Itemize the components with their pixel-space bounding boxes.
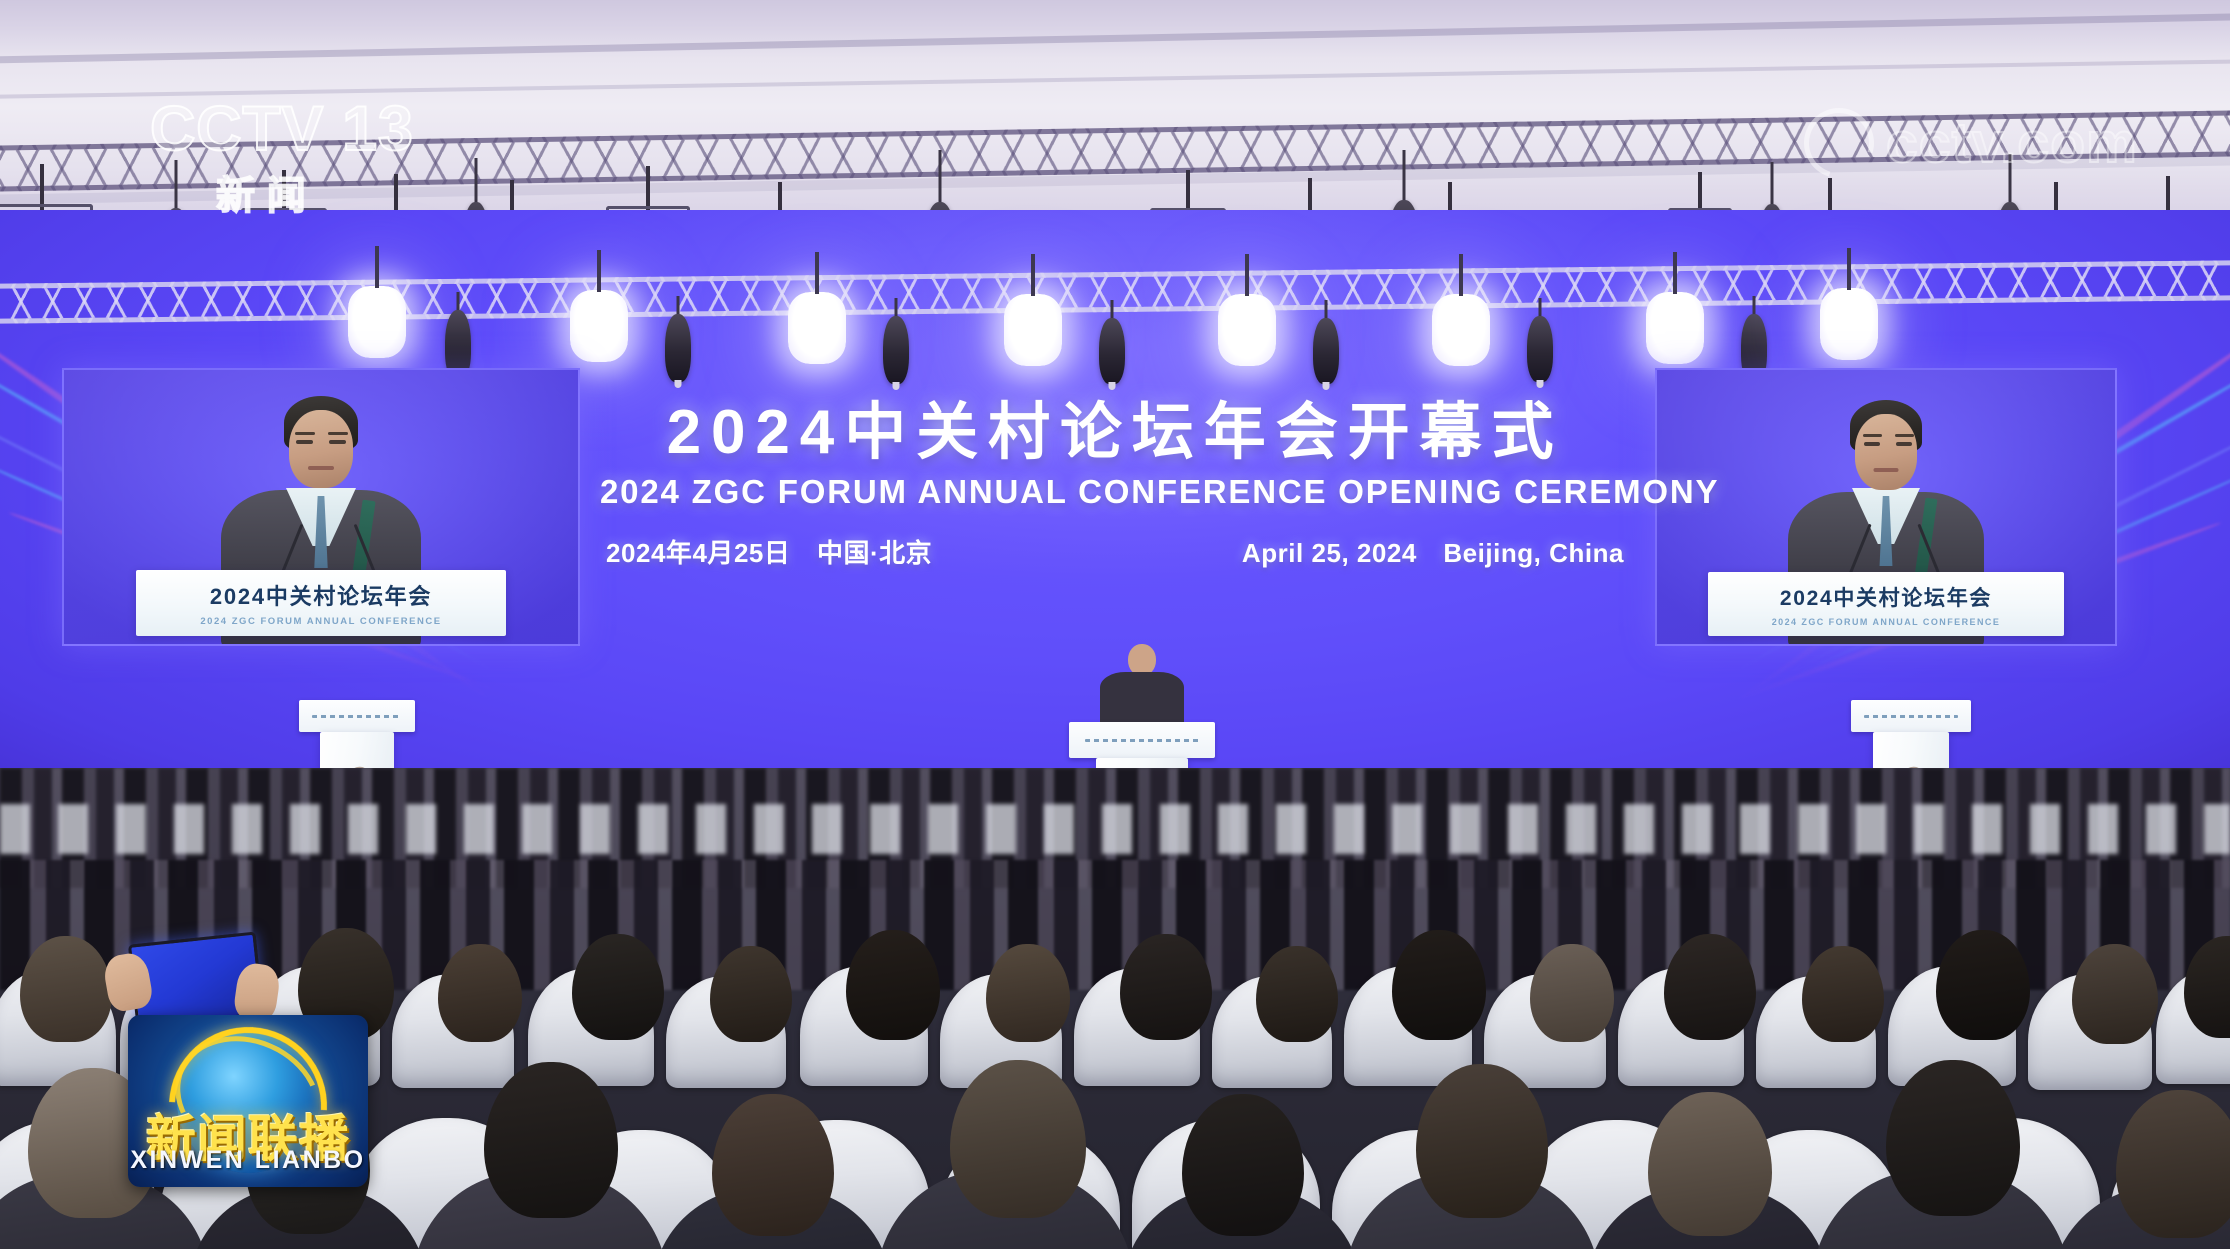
softbox-light <box>1820 288 1878 360</box>
right-screen-podium-sign: 2024中关村论坛年会 2024 ZGC FORUM ANNUAL CONFER… <box>1708 572 2064 636</box>
event-title-zh: 2024中关村论坛年会开幕式 <box>600 398 1630 467</box>
softbox-light <box>1218 294 1276 366</box>
event-title-en: 2024 ZGC FORUM ANNUAL CONFERENCE OPENING… <box>600 473 1630 511</box>
softbox-light <box>1004 294 1062 366</box>
left-led-screen: 2024中关村论坛年会 2024 ZGC FORUM ANNUAL CONFER… <box>62 368 580 646</box>
main-title-block: 2024中关村论坛年会开幕式 2024 ZGC FORUM ANNUAL CON… <box>600 398 1630 570</box>
softbox-light <box>1646 292 1704 364</box>
live-speaker-figure <box>1096 644 1188 722</box>
broadcast-frame: 2024中关村论坛年会 2024 ZGC FORUM ANNUAL CONFER… <box>0 0 2230 1249</box>
podium-sign-zh: 2024中关村论坛年会 <box>210 579 432 611</box>
softbox-light <box>348 286 406 358</box>
podium-sign-zh: 2024中关村论坛年会 <box>1780 582 1992 612</box>
softbox-light <box>788 292 846 364</box>
event-date-en: April 25, 2024 Beijing, China <box>1242 533 1624 570</box>
softbox-light <box>570 290 628 362</box>
podium-sign-en: 2024 ZGC FORUM ANNUAL CONFERENCE <box>200 616 441 627</box>
far-chair-row <box>0 804 2230 854</box>
podium-sign-en: 2024 ZGC FORUM ANNUAL CONFERENCE <box>1772 617 2001 627</box>
program-bug: 新闻联播 XINWEN LIANBO <box>128 1015 368 1187</box>
right-led-screen: 2024中关村论坛年会 2024 ZGC FORUM ANNUAL CONFER… <box>1655 368 2117 646</box>
program-title-en: XINWEN LIANBO <box>128 1146 368 1175</box>
event-date-zh: 2024年4月25日 中国·北京 <box>606 533 932 570</box>
event-date-row: 2024年4月25日 中国·北京 April 25, 2024 Beijing,… <box>600 533 1630 570</box>
ceiling-band <box>0 58 2230 100</box>
ceiling-band <box>0 12 2230 65</box>
softbox-light <box>1432 294 1490 366</box>
left-screen-podium-sign: 2024中关村论坛年会 2024 ZGC FORUM ANNUAL CONFER… <box>136 570 506 636</box>
